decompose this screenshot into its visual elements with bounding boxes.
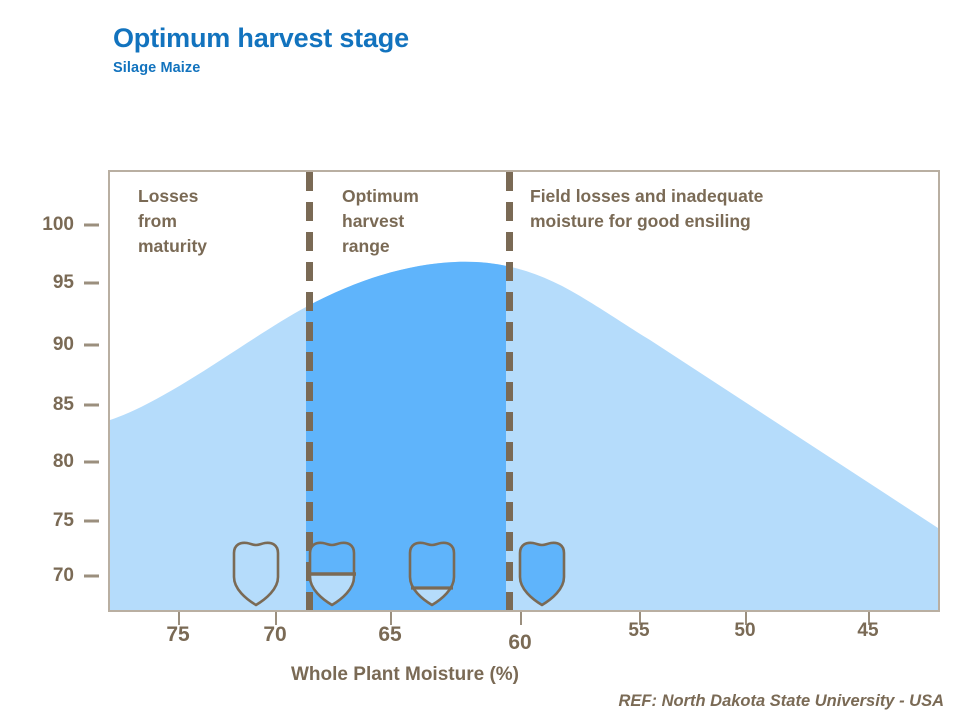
chart-header: Optimum harvest stage Silage Maize <box>113 24 713 76</box>
y-tick-label: 70 <box>14 565 74 587</box>
chart-plot-inner: Losses from maturity Optimum harvest ran… <box>110 172 938 610</box>
y-tick-mark <box>84 282 99 285</box>
page-subtitle: Silage Maize <box>113 60 713 76</box>
kernel-black-layer-icon <box>516 539 568 607</box>
y-tick-mark <box>84 520 99 523</box>
y-tick-mark <box>84 404 99 407</box>
y-tick-label: 100 <box>14 214 74 236</box>
page-title: Optimum harvest stage <box>113 24 713 54</box>
kernel-three-quarter-milk-line-icon <box>406 539 458 607</box>
x-tick-label: 50 <box>710 620 780 642</box>
x-axis-title: Whole Plant Moisture (%) <box>0 664 810 686</box>
y-tick-mark <box>84 224 99 227</box>
zone-label-field-losses: Field losses and inadequate moisture for… <box>530 184 763 234</box>
zone-label-optimum-harvest-range: Optimum harvest range <box>342 184 419 259</box>
y-tick-mark <box>84 461 99 464</box>
y-tick-mark <box>84 344 99 347</box>
reference-note: REF: North Dakota State University - USA <box>619 692 944 711</box>
y-tick-label: 95 <box>14 272 74 294</box>
y-tick-mark <box>84 575 99 578</box>
x-tick-label: 55 <box>604 620 674 642</box>
y-tick-label: 75 <box>14 510 74 532</box>
chart-plot-area: Losses from maturity Optimum harvest ran… <box>108 170 940 612</box>
x-tick-label: 60 <box>485 631 555 655</box>
zone-label-losses-from-maturity: Losses from maturity <box>138 184 207 259</box>
x-tick-label: 45 <box>833 620 903 642</box>
x-tick-label: 70 <box>240 623 310 647</box>
y-tick-label: 80 <box>14 451 74 473</box>
kernel-no-milk-line-icon <box>230 539 282 607</box>
y-tick-label: 85 <box>14 394 74 416</box>
y-tick-label: 90 <box>14 334 74 356</box>
x-tick-label: 65 <box>355 623 425 647</box>
divider-right-dashed-line <box>506 172 513 610</box>
kernel-half-milk-line-icon <box>306 539 358 607</box>
x-tick-label: 75 <box>143 623 213 647</box>
